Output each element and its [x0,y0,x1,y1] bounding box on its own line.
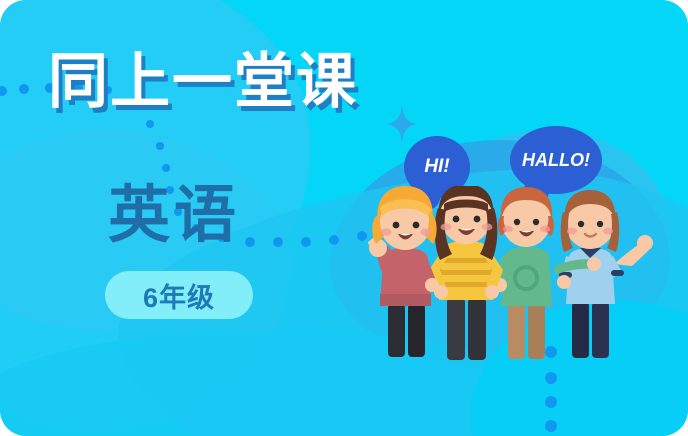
hallo-speech-bubble-text: HALLO! [522,150,590,171]
hi-speech-bubble-text: HI! [424,156,449,178]
child-blonde-boy [369,186,439,357]
grade-badge-label: 6年级 [143,276,215,315]
path-dot [545,420,557,432]
path-dot [329,235,339,245]
grade-badge: 6年级 [105,271,253,319]
four-children-illustration [356,186,676,361]
path-dot [301,237,311,247]
course-cover-card: 同上一堂课 英语 6年级 HI! HALLO! [0,0,688,436]
path-dot [245,237,255,247]
path-dot [19,84,29,94]
child-brown-hair-girl [557,190,653,358]
path-dot [0,86,7,96]
sparkle-icon [387,105,417,143]
path-dot [156,142,164,150]
path-dot [545,396,557,408]
page-title: 同上一堂课 [48,50,358,113]
path-dot [162,164,170,172]
path-dot [146,120,154,128]
subject-title: 英语 [108,185,240,247]
hallo-speech-bubble: HALLO! [510,126,602,194]
path-dot [545,372,557,384]
child-brunette-girl [429,186,503,360]
path-dot [273,237,283,247]
